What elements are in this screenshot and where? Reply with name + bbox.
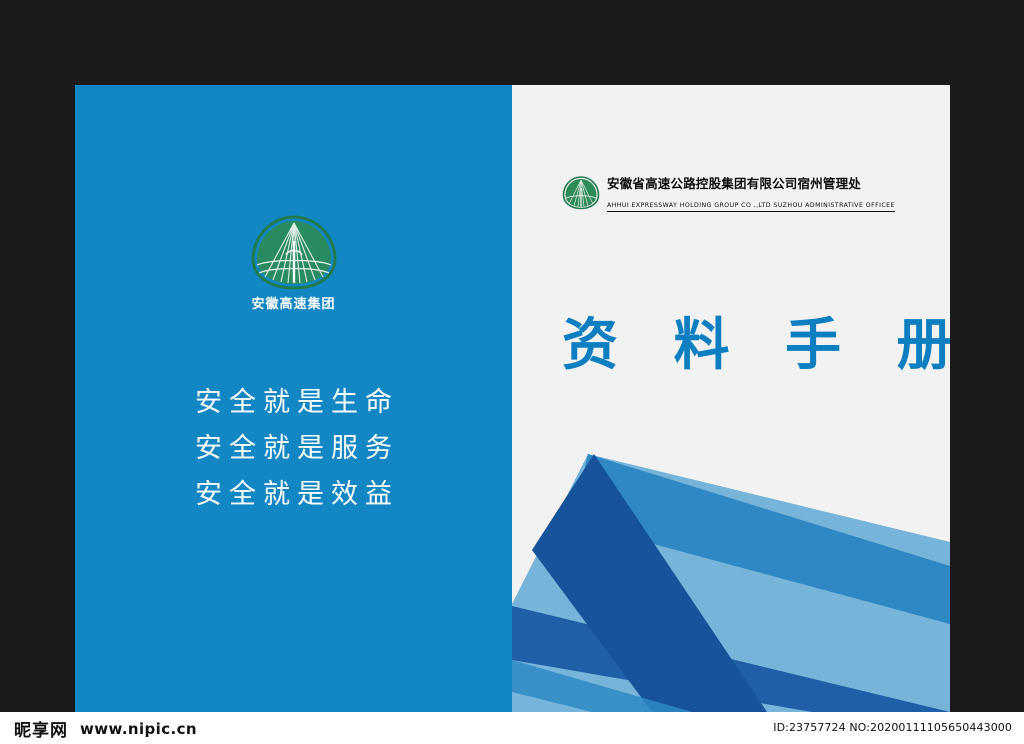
organization-block: 安徽省高速公路控股集团有限公司宿州管理处 AHHUI EXPRESSWAY HO… — [562, 173, 895, 212]
fan-shell-logo-icon — [249, 215, 339, 290]
slogan-list: 安全就是生命 安全就是服务 安全就是效益 — [75, 380, 512, 518]
slogan-line: 安全就是效益 — [75, 472, 512, 518]
ribbon-graphic — [512, 454, 950, 712]
footer-brand-name: 昵享网 — [14, 716, 68, 741]
cover-title: 资 料 手 册 — [562, 300, 950, 381]
organization-names: 安徽省高速公路控股集团有限公司宿州管理处 AHHUI EXPRESSWAY HO… — [607, 173, 895, 212]
artboard: 安徽高速集团 安全就是生命 安全就是服务 安全就是效益 — [75, 85, 950, 712]
fan-shell-logo-icon — [562, 176, 600, 210]
organization-name-cn: 安徽省高速公路控股集团有限公司宿州管理处 — [607, 173, 895, 192]
slogan-line: 安全就是服务 — [75, 426, 512, 472]
footer-url[interactable]: www.nipic.cn — [80, 720, 197, 738]
footer-asset-id: ID:23757724 NO:20200111105650443000 — [773, 721, 1012, 734]
right-cover-panel: 安徽省高速公路控股集团有限公司宿州管理处 AHHUI EXPRESSWAY HO… — [512, 85, 950, 712]
left-logo-caption: 安徽高速集团 — [251, 293, 335, 312]
screenshot-stage: 安徽高速集团 安全就是生命 安全就是服务 安全就是效益 — [0, 0, 1024, 744]
slogan-line: 安全就是生命 — [75, 380, 512, 426]
footer-brand: 昵享网 www.nipic.cn — [14, 716, 197, 741]
organization-name-en: AHHUI EXPRESSWAY HOLDING GROUP CO .,LTD … — [607, 202, 895, 212]
footer-bar: 昵享网 www.nipic.cn ID:23757724 NO:20200111… — [0, 712, 1024, 744]
left-cover-panel: 安徽高速集团 安全就是生命 安全就是服务 安全就是效益 — [75, 85, 512, 712]
